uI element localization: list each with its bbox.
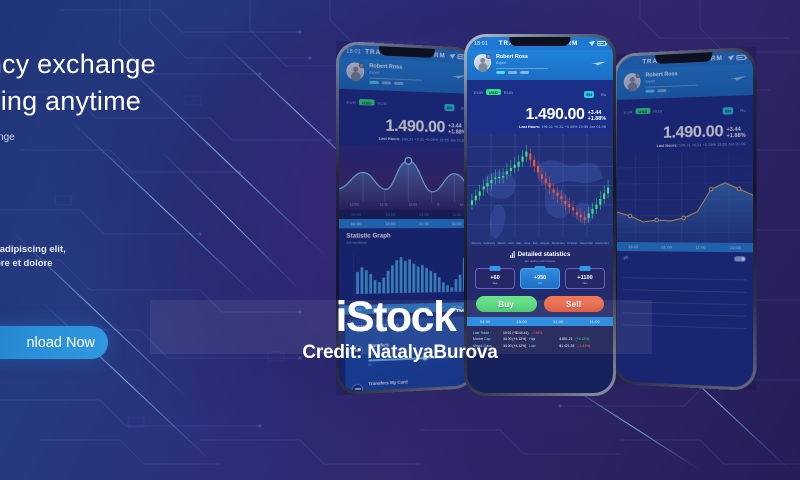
time-tab[interactable]: 04:00 <box>339 219 374 228</box>
row-value-2: 4.801.21 <box>559 337 572 341</box>
last-hours: Last Hours: 199.31 +0.31 +0.05% 19:55 Ju… <box>624 142 746 149</box>
currency-eur[interactable]: EUR <box>624 109 633 114</box>
avatar[interactable] <box>474 54 491 71</box>
list-item <box>623 324 747 329</box>
currency-options[interactable]: EUR USD RUB <box>474 89 513 96</box>
status-icons <box>728 55 746 61</box>
quote-box: 1.490.00 +3.44 +1.88% Last Hours: 199.31… <box>467 104 613 134</box>
status-time: 18:01 <box>474 41 488 47</box>
statistic-graph-title: Statistic Graph <box>339 228 473 240</box>
bar <box>361 267 364 293</box>
list-placeholder <box>617 260 753 336</box>
bar-chart-icon <box>510 251 515 258</box>
candle-body <box>584 217 586 220</box>
list-item <box>623 277 747 280</box>
chip <box>520 71 529 74</box>
time-tab[interactable]: 15:00 <box>374 210 408 219</box>
payment-row[interactable]: Transfers Limit per day 50 <box>352 330 462 367</box>
candle-body <box>494 177 496 178</box>
last-hours: Last Hours: 199.31 +0.31 +0.05% 19:55 Ju… <box>346 136 466 143</box>
currency-options[interactable]: EUR USD RUB <box>346 98 387 106</box>
row-key-2: Higt <box>529 337 556 341</box>
phone-center-reflection <box>464 398 616 480</box>
candle-body <box>560 196 562 199</box>
currency-eur[interactable]: EUR <box>474 90 483 95</box>
bar <box>412 264 415 293</box>
last-hours-value: 199.31 +0.31 +0.05% 19:55 Jun 01.06 <box>679 142 746 148</box>
notification-dot-icon <box>486 54 491 59</box>
time-tab[interactable]: 15:00 <box>374 304 408 314</box>
hero-subline: ons for exchange <box>0 132 268 143</box>
user-bar[interactable]: Robert Ross Expert <box>339 58 473 94</box>
candle-body <box>553 189 555 192</box>
user-chips <box>645 86 745 93</box>
chip <box>645 89 654 92</box>
row-value: 34.00 (+4.12%) <box>503 337 526 341</box>
bar <box>400 257 403 293</box>
list-header-label: ph <box>624 255 629 260</box>
uiux-title: I/UX <box>0 176 268 207</box>
stat-card-nov[interactable]: +1100 Nov <box>565 268 605 289</box>
bar <box>378 282 381 293</box>
toggle-switch[interactable] <box>734 256 746 261</box>
quote-delta-abs: +3.44 <box>726 126 740 133</box>
chip <box>369 81 378 84</box>
currency-usd[interactable]: USD <box>636 107 650 114</box>
candle-body <box>502 176 504 177</box>
month-tick: June <box>524 241 530 245</box>
currency-rub[interactable]: RUB <box>653 108 662 113</box>
row-key: Last Trade : <box>473 331 500 335</box>
phone-center: 18:01 TRADING PLATFORM Robert Ross Exper… <box>464 34 616 396</box>
candle-body <box>498 177 500 178</box>
quote-delta-abs: +3.44 <box>588 110 602 116</box>
bar <box>408 259 411 292</box>
phone-right: 18:01 TRADING PLATFORM Robert Ross Exper… <box>614 47 756 391</box>
stat-card-sep[interactable]: +60 Sep <box>475 268 515 289</box>
currency-usd[interactable]: USD <box>486 89 500 96</box>
user-name: Robert Ross <box>496 54 606 60</box>
currency-rub[interactable]: RUB <box>504 90 513 95</box>
currency-eur[interactable]: EUR <box>346 99 356 105</box>
time-tabs-inactive[interactable]: 04:00 15:00 01:00 11:00 <box>339 210 473 219</box>
headline-line-1: urrency exchange <box>0 46 268 83</box>
bar <box>382 278 385 294</box>
stat-card-month: Oct <box>523 281 557 285</box>
time-tab[interactable]: 01:00 <box>407 210 440 219</box>
time-tab[interactable]: 04:00 <box>467 317 504 326</box>
last-hours-value: 199.31 +0.31 +0.05% 19:55 Jun 01.06 <box>402 137 467 143</box>
avatar[interactable] <box>624 73 641 91</box>
time-tab[interactable]: 01:00 <box>407 219 440 228</box>
candle-body <box>518 162 520 167</box>
last-hours-value: 199.31 +0.31 +0.05% 19:55 Jun 01.06 <box>541 125 606 129</box>
quote-delta: +3.44 +1.88% <box>588 110 606 124</box>
bar <box>369 274 372 294</box>
detailed-statistics-header[interactable]: Detailed statistics <box>467 246 613 259</box>
stat-card-oct[interactable]: +950 Oct <box>520 268 560 289</box>
buy-button[interactable]: Buy <box>476 296 537 312</box>
bar <box>404 261 407 293</box>
last-hours-label: Last Hours: <box>379 137 401 142</box>
bar <box>459 275 462 292</box>
wave-tick: 0 <box>437 203 439 207</box>
last-hours-label: Last Hours: <box>519 125 540 129</box>
candle-body <box>490 180 492 183</box>
language-switch[interactable]: EN Ru <box>584 83 606 101</box>
chip <box>382 81 391 84</box>
notification-dot-icon <box>359 63 364 68</box>
row-value: 19:01 (^$144.41) <box>503 331 529 335</box>
quote-price: 1.490.00 <box>385 118 445 136</box>
list-item <box>623 289 747 292</box>
hero-copy: urrency exchange , trading anytime ons f… <box>0 46 268 272</box>
candle-body <box>603 193 605 199</box>
time-tab[interactable]: 11:00 <box>577 317 614 326</box>
uiux-subtitle: Mobile App <box>0 209 268 221</box>
candle-body <box>471 200 473 204</box>
bar <box>356 272 359 294</box>
candle-body <box>564 201 566 204</box>
poster-canvas: urrency exchange , trading anytime ons f… <box>0 0 800 480</box>
phone-center-screen: 18:01 TRADING PLATFORM Robert Ross Exper… <box>467 37 613 393</box>
candle-body <box>599 199 601 205</box>
headline-line-2: , trading anytime <box>0 83 268 120</box>
time-tab[interactable]: 01:00 <box>407 303 440 313</box>
quote-box: 1.490.00 +3.44 +1.88% Last Hours: 199.31… <box>339 114 473 148</box>
bar <box>450 287 453 291</box>
month-tick: August <box>540 241 549 245</box>
sell-button[interactable]: Sell <box>544 296 605 312</box>
quote-price: 1.490.00 <box>663 124 723 142</box>
month-tick: March <box>498 241 506 245</box>
month-tick: July <box>533 241 538 245</box>
bar-chart <box>339 247 473 305</box>
bar <box>387 271 390 293</box>
row-extra-2: (+4.12%) <box>575 337 589 341</box>
phone-right-screen: 18:01 TRADING PLATFORM Robert Ross Exper… <box>617 50 753 388</box>
quote-delta-pct: +1.88% <box>588 116 606 122</box>
signal-icon <box>589 41 595 46</box>
bar <box>391 265 394 293</box>
candle-body <box>568 204 570 207</box>
language-ru[interactable]: Ru <box>601 92 606 97</box>
month-tick: February <box>484 241 496 245</box>
month-tick: December <box>596 241 609 245</box>
month-tick: November <box>580 241 593 245</box>
language-en[interactable]: EN <box>723 107 734 114</box>
download-now-label: nload Now <box>26 335 95 351</box>
row-key: Market Cap <box>473 337 500 341</box>
wave-tick: 12:00 <box>350 202 359 206</box>
status-icons <box>589 41 606 46</box>
candle-body <box>529 153 531 159</box>
chip <box>657 89 666 92</box>
time-tab[interactable]: 01:00 <box>650 242 684 251</box>
phone-left: 18:01 TRADING PLATFORM Robert Ross Exper… <box>336 41 476 395</box>
time-tab[interactable]: 15:00 <box>374 219 408 228</box>
month-tick: Septembe <box>552 241 565 245</box>
currency-options[interactable]: EUR USD RUB <box>624 107 663 115</box>
payment-row-name: Transfers My Card <box>368 379 407 386</box>
candle-body <box>506 171 508 174</box>
card-icon <box>352 345 364 357</box>
candle-body <box>521 157 523 162</box>
quote-delta-pct: +1.88% <box>726 133 745 140</box>
language-en[interactable]: EN <box>584 91 595 98</box>
user-bar[interactable]: Robert Ross Expert <box>467 50 613 80</box>
bar <box>417 267 420 293</box>
quote-delta: +3.44 +1.88% <box>726 126 745 140</box>
world-map <box>485 160 603 238</box>
payment-row-name: Transfers <box>368 342 388 348</box>
candle-body <box>607 188 609 194</box>
table-row: Market Cap 34.00 (+4.12%) Higt 4.801.21 … <box>473 337 607 341</box>
tag-icon <box>535 266 546 271</box>
language-en[interactable]: EN <box>444 104 454 111</box>
candle-body <box>483 186 485 189</box>
paper-plane-icon <box>591 61 607 66</box>
phone-left-screen: 18:01 TRADING PLATFORM Robert Ross Exper… <box>339 44 473 392</box>
bar <box>421 265 424 292</box>
divider <box>369 77 422 80</box>
wave-tick: 16 <box>459 203 463 207</box>
currency-rub[interactable]: RUB <box>377 100 387 105</box>
download-now-button[interactable]: nload Now <box>0 326 108 359</box>
candle-body <box>510 168 512 171</box>
candle-body <box>556 193 558 196</box>
row-key: Mined Coins <box>473 344 500 348</box>
payment-settings-header: PAYMENT SETTINGS <box>352 321 462 329</box>
stat-card-month: Nov <box>568 281 602 285</box>
paper-plane-icon <box>730 75 747 81</box>
list-item <box>623 313 747 317</box>
time-tab[interactable]: 01:00 <box>540 317 577 326</box>
status-time: 18:01 <box>346 48 361 55</box>
row-extra-2: (-1.41%) <box>577 344 590 348</box>
bar <box>434 273 437 292</box>
center-time-tabs[interactable]: 04:00 15:00 01:00 11:00 <box>467 317 613 326</box>
user-bar[interactable]: Robert Ross Expert <box>617 64 753 100</box>
lorem-line-2: didunt ut labore et dolore <box>0 257 268 272</box>
wave-chart: 12:00 11:11 16:00 0 16 <box>339 145 473 210</box>
payment-settings-card: PAYMENT SETTINGS Transfers Limit per day… <box>345 316 467 392</box>
currency-usd[interactable]: USD <box>359 99 374 106</box>
candle-body <box>479 191 481 195</box>
month-tick: October <box>567 241 577 245</box>
month-tick: May <box>516 241 521 245</box>
time-tab[interactable]: 04:00 <box>339 210 374 219</box>
divider <box>496 68 548 69</box>
time-tab[interactable]: 22:00 <box>718 243 753 253</box>
right-time-tabs[interactable]: 15:00 01:00 11:00 22:00 <box>617 242 753 252</box>
candle-body <box>514 165 516 168</box>
time-tab[interactable]: 11:00 <box>684 242 718 252</box>
user-chips <box>369 81 466 88</box>
candle-body <box>525 152 527 157</box>
lorem-line-1: , consectetur adipiscing elit, <box>0 243 268 258</box>
chip <box>508 71 517 74</box>
battery-icon <box>597 41 606 46</box>
bar <box>365 270 368 293</box>
last-hours: Last Hours: 199.31 +0.31 +0.05% 19:55 Ju… <box>474 125 606 129</box>
quote-price: 1.490.00 <box>525 107 584 123</box>
tag-icon <box>490 266 501 271</box>
battery-icon <box>736 55 745 60</box>
table-row: Last Trade : 19:01 (^$144.41) -0.46% <box>473 331 607 335</box>
time-tab[interactable]: 15:00 <box>617 242 650 251</box>
candle-body <box>588 213 590 217</box>
stats-table: Last Trade : 19:01 (^$144.41) -0.46% Mar… <box>467 326 613 353</box>
detailed-statistics-label: Detailed statistics <box>518 251 571 258</box>
month-tick: January <box>471 241 481 245</box>
candle-body <box>537 166 539 172</box>
bar <box>374 280 377 294</box>
chip <box>394 82 403 85</box>
candle-body <box>572 207 574 210</box>
chip <box>496 71 505 74</box>
candle-body <box>486 183 488 186</box>
row-key-2: Low <box>529 344 556 348</box>
candle-body <box>533 160 535 166</box>
bar <box>446 285 449 292</box>
stat-card-month: Sep <box>478 281 512 285</box>
language-switch[interactable]: EN Ru <box>444 96 466 115</box>
candle-body <box>591 209 593 213</box>
bar <box>429 271 432 292</box>
trade-actions[interactable]: Buy Sell <box>467 293 613 317</box>
row-value: 34.00 (+4.12%) <box>503 344 526 348</box>
wave-tick: 16:00 <box>409 203 418 207</box>
signal-icon <box>449 54 455 59</box>
bar <box>438 277 441 292</box>
candle-body <box>580 215 582 218</box>
divider <box>645 84 697 87</box>
table-row: Mined Coins 34.00 (+4.12%) Low $1.421.33… <box>473 344 607 348</box>
month-axis-labels: JanuaryFebruaryMarchAprilMayJuneJulyAugu… <box>467 241 613 245</box>
user-chips <box>496 71 606 74</box>
wave-axis-labels: 12:00 11:11 16:00 0 16 <box>339 201 473 207</box>
candle-body <box>576 212 578 215</box>
time-tab[interactable]: 15:00 <box>504 317 541 326</box>
bar <box>455 279 458 292</box>
candle-body <box>545 179 547 183</box>
card-icon <box>352 383 364 392</box>
time-tabs-active[interactable]: 04:00 15:00 01:00 11:00 <box>339 219 473 228</box>
wave-tick: 11:11 <box>380 203 388 207</box>
month-tick: April <box>508 241 514 245</box>
notch <box>509 37 570 46</box>
row-extra: -0.46% <box>532 331 543 335</box>
tag-icon <box>580 266 591 271</box>
language-ru[interactable]: Ru <box>740 108 745 113</box>
candle-body <box>475 196 477 200</box>
bar <box>425 268 428 292</box>
quote-delta-abs: +3.44 <box>448 123 461 129</box>
candle-body <box>595 205 597 209</box>
currency-bar[interactable]: EUR USD RUB EN Ru <box>467 80 613 104</box>
quote-box: 1.490.00 +3.44 +1.88% Last Hours: 199.31… <box>617 120 753 154</box>
candle-body <box>549 183 551 187</box>
candlestick-chart: JanuaryFebruaryMarchAprilMayJuneJulyAugu… <box>467 134 613 246</box>
list-item <box>623 301 747 305</box>
language-switch[interactable]: EN Ru <box>723 98 746 117</box>
row-value-2: $1.421.33 <box>559 344 574 348</box>
signal-icon <box>728 55 734 60</box>
notification-dot-icon <box>636 73 641 78</box>
last-hours-label: Last Hours: <box>657 144 678 149</box>
stat-cards[interactable]: +60 Sep +950 Oct +1100 Nov <box>467 263 613 293</box>
bar <box>395 260 398 293</box>
user-role: Expert <box>496 61 606 65</box>
time-tab[interactable]: 04:00 <box>339 305 374 315</box>
avatar[interactable] <box>346 62 364 80</box>
candle-body <box>541 174 543 178</box>
bar <box>442 282 445 292</box>
line-chart <box>617 151 753 243</box>
